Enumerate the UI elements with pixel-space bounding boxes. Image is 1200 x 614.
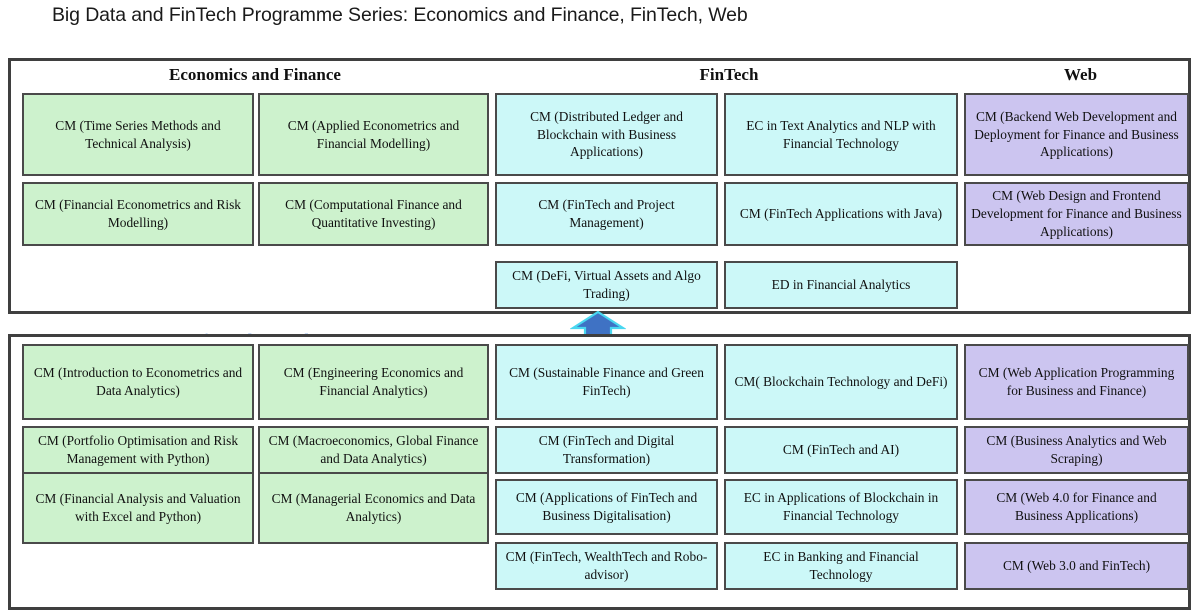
column-header-fintech: FinTech bbox=[496, 65, 962, 85]
course-box[interactable]: CM (Web 4.0 for Finance and Business App… bbox=[964, 479, 1189, 535]
course-box[interactable]: CM( Blockchain Technology and DeFi) bbox=[724, 344, 958, 420]
course-box[interactable]: CM (Distributed Ledger and Blockchain wi… bbox=[495, 93, 718, 176]
course-box[interactable]: CM (Introduction to Econometrics and Dat… bbox=[22, 344, 254, 420]
course-box[interactable]: CM (Backend Web Development and Deployme… bbox=[964, 93, 1189, 176]
page-title: Big Data and FinTech Programme Series: E… bbox=[52, 4, 748, 27]
course-box[interactable]: CM (FinTech and Project Management) bbox=[495, 182, 718, 246]
course-box[interactable]: CM (Web Application Programming for Busi… bbox=[964, 344, 1189, 420]
course-box[interactable]: CM (Financial Econometrics and Risk Mode… bbox=[22, 182, 254, 246]
course-box[interactable]: CM (Web 3.0 and FinTech) bbox=[964, 542, 1189, 590]
advanced-learners-panel: Economics and Finance FinTech Web Course… bbox=[8, 58, 1191, 314]
course-box[interactable]: CM (Macroeconomics, Global Finance and D… bbox=[258, 426, 489, 474]
course-box[interactable]: EC in Applications of Blockchain in Fina… bbox=[724, 479, 958, 535]
beginner-intermediate-panel: Courses for Beginners and Intermediate L… bbox=[8, 334, 1191, 610]
course-box[interactable]: CM (FinTech and AI) bbox=[724, 426, 958, 474]
course-box[interactable]: EC in Text Analytics and NLP with Financ… bbox=[724, 93, 958, 176]
course-box[interactable]: CM (Engineering Economics and Financial … bbox=[258, 344, 489, 420]
course-box[interactable]: EC in Banking and Financial Technology bbox=[724, 542, 958, 590]
column-header-web: Web bbox=[968, 65, 1193, 85]
course-box[interactable]: ED in Financial Analytics bbox=[724, 261, 958, 309]
course-box[interactable]: CM (Applications of FinTech and Business… bbox=[495, 479, 718, 535]
course-box[interactable]: CM (Business Analytics and Web Scraping) bbox=[964, 426, 1189, 474]
column-header-economics-and-finance: Economics and Finance bbox=[22, 65, 488, 85]
course-box[interactable]: CM (DeFi, Virtual Assets and Algo Tradin… bbox=[495, 261, 718, 309]
column-header-row: Economics and Finance FinTech Web bbox=[11, 61, 1188, 91]
course-box[interactable]: CM (Sustainable Finance and Green FinTec… bbox=[495, 344, 718, 420]
course-box[interactable]: CM (Managerial Economics and Data Analyt… bbox=[258, 472, 489, 544]
course-box[interactable]: CM (Applied Econometrics and Financial M… bbox=[258, 93, 489, 176]
course-box[interactable]: CM (FinTech and Digital Transformation) bbox=[495, 426, 718, 474]
course-box[interactable]: CM (FinTech Applications with Java) bbox=[724, 182, 958, 246]
course-box[interactable]: CM (Time Series Methods and Technical An… bbox=[22, 93, 254, 176]
course-box[interactable]: CM (FinTech, WealthTech and Robo-advisor… bbox=[495, 542, 718, 590]
course-box[interactable]: CM (Portfolio Optimisation and Risk Mana… bbox=[22, 426, 254, 474]
course-box[interactable]: CM (Computational Finance and Quantitati… bbox=[258, 182, 489, 246]
diagram-canvas: Big Data and FinTech Programme Series: E… bbox=[0, 0, 1200, 614]
course-box[interactable]: CM (Financial Analysis and Valuation wit… bbox=[22, 472, 254, 544]
course-box[interactable]: CM (Web Design and Frontend Development … bbox=[964, 182, 1189, 246]
